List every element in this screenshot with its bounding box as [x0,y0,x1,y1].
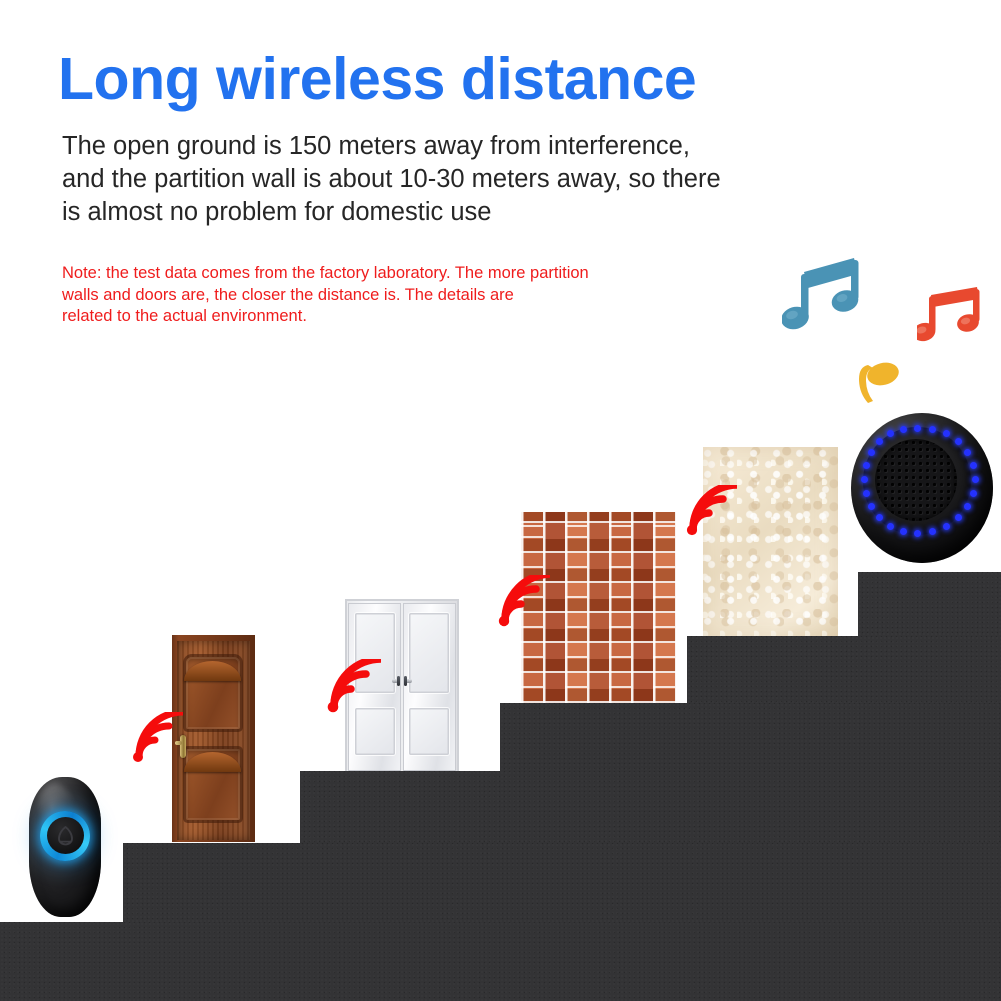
music-note-yellow [854,353,904,407]
disclaimer-note: Note: the test data comes from the facto… [62,263,742,328]
note-line-1: Note: the test data comes from the facto… [62,263,742,285]
signal-icon-1 [127,712,183,768]
bell-icon [56,825,75,847]
white-door-panel [409,613,449,694]
signal-icon-3 [492,575,550,633]
description-line-3: is almost no problem for domestic use [62,196,862,229]
doorbell-center[interactable] [47,817,84,854]
stone-wall [703,447,838,636]
white-door-panel [409,708,449,755]
signal-dot [687,525,697,535]
stair-step-1 [123,843,1001,922]
signal-dot [133,752,143,762]
signal-icon-2 [321,659,381,719]
stair-step-5 [858,572,1001,636]
stair-step-ground [0,922,1001,1001]
music-note-blue [782,252,864,336]
stair-step-4 [687,636,1001,703]
door-escutcheon [397,676,400,687]
doorbell-button[interactable] [29,777,101,917]
signal-dot [328,702,339,713]
note-line-3: related to the actual environment. [62,306,742,328]
description-line-2: and the partition wall is about 10-30 me… [62,163,862,196]
signal-dot [499,616,509,626]
door-escutcheon [404,676,407,687]
description-line-1: The open ground is 150 meters away from … [62,130,862,163]
signal-icon-4 [681,485,737,541]
music-note-red [917,281,987,351]
receiver-speaker[interactable] [851,413,993,563]
description-text: The open ground is 150 meters away from … [62,130,862,229]
stair-step-2 [300,771,1001,843]
wood-door-leaf [177,641,250,840]
page-title: Long wireless distance [58,48,696,110]
note-line-2: walls and doors are, the closer the dist… [62,285,742,307]
doorbell-ring-wrap [40,811,90,861]
white-door-leaf-right [403,603,456,771]
doorbell-led-ring [40,811,90,861]
wooden-door [172,635,255,842]
receiver-led-ring [851,413,993,563]
infographic-canvas: Long wireless distance The open ground i… [0,0,1001,1001]
stair-step-3 [500,703,1001,771]
